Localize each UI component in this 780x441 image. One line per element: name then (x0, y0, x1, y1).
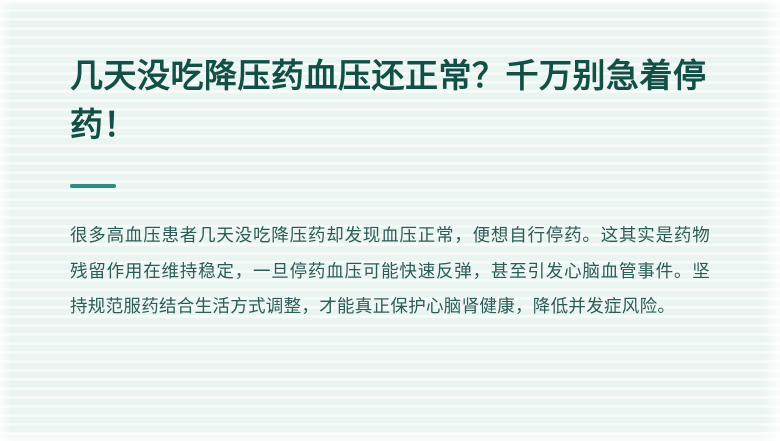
body-paragraph: 很多高血压患者几天没吃降压药却发现血压正常，便想自行停药。这其实是药物残留作用在… (70, 218, 710, 326)
edge-highlight-bottom (0, 427, 780, 441)
slide-canvas: 几天没吃降压药血压还正常？千万别急着停药！ 很多高血压患者几天没吃降压药却发现血… (0, 0, 780, 441)
title-divider (70, 184, 116, 188)
page-title: 几天没吃降压药血压还正常？千万别急着停药！ (70, 52, 710, 150)
slide-content: 几天没吃降压药血压还正常？千万别急着停药！ 很多高血压患者几天没吃降压药却发现血… (0, 0, 780, 325)
